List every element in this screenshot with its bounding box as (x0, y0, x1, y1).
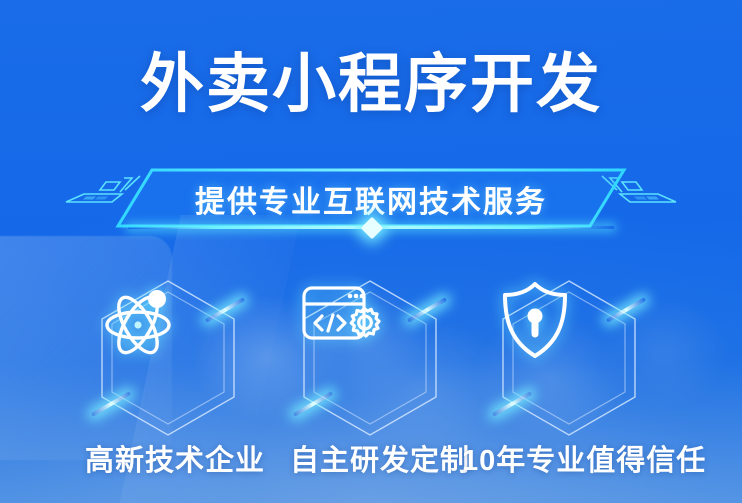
feature-captions: 高新技术企业 自主研发定制 10年专业值得信任 (0, 441, 742, 483)
atom-icon (95, 278, 241, 438)
caption-high-tech-enterprise: 高新技术企业 (85, 441, 265, 481)
caption-ten-years-trust: 10年专业值得信任 (462, 441, 706, 481)
code-window-gear-icon (297, 278, 443, 438)
feature-hex-independent-rnd (297, 278, 443, 438)
subtitle-banner: 提供专业互联网技术服务 (0, 160, 742, 240)
banner-title: 外卖小程序开发 (0, 49, 742, 119)
feature-hex-ten-years-trust (496, 278, 642, 438)
promo-banner: 外卖小程序开发 (0, 0, 742, 503)
feature-hex-high-tech-enterprise (95, 278, 241, 438)
caption-independent-rnd: 自主研发定制 (290, 441, 470, 481)
shield-lock-icon (496, 278, 642, 438)
